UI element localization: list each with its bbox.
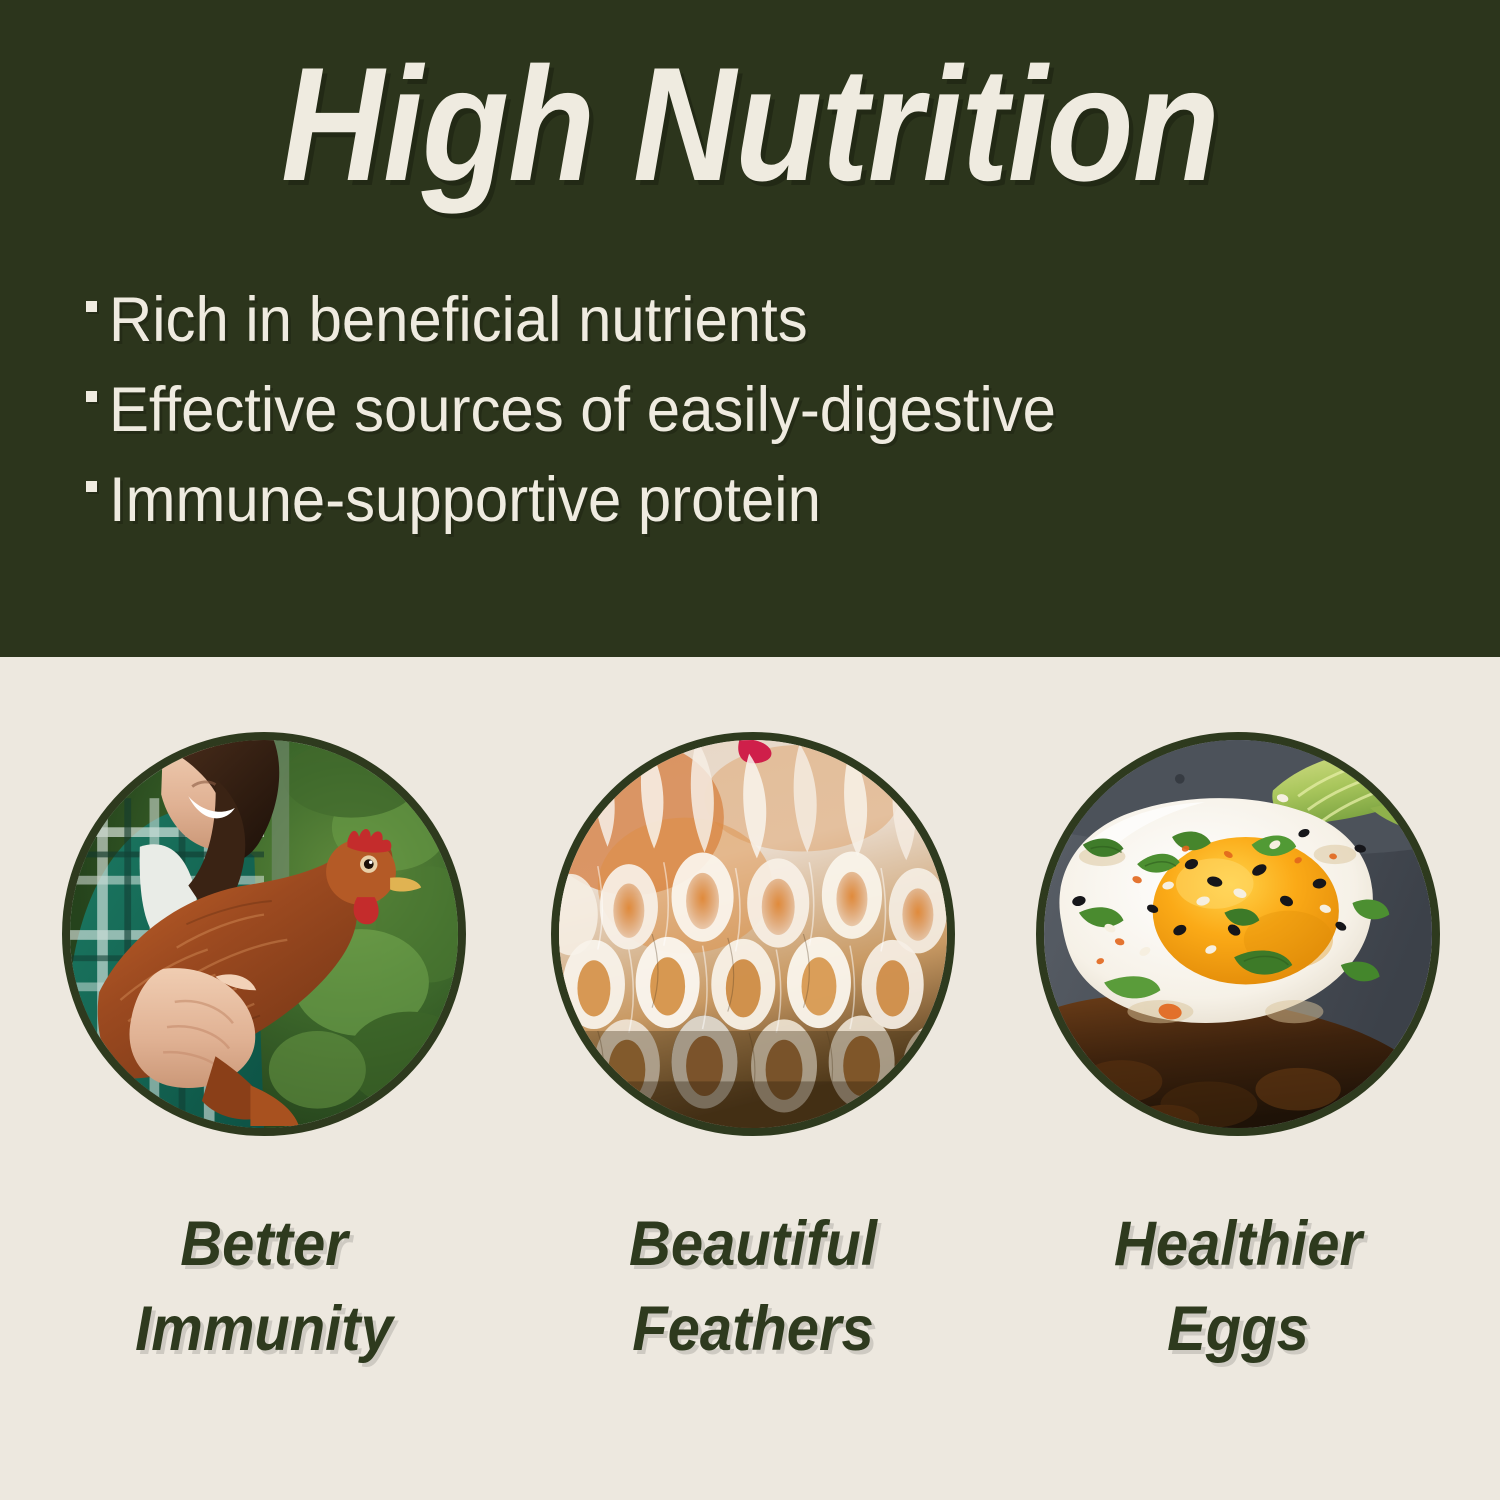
list-item: Rich in beneficial nutrients — [86, 286, 1426, 376]
benefit-text: Rich in beneficial nutrients — [109, 286, 808, 354]
feature-label-line1: Healthier — [1052, 1202, 1424, 1287]
benefit-text: Effective sources of easily-digestive — [109, 376, 1056, 444]
feature-label: Beautiful Feathers — [567, 1202, 939, 1372]
feature-label-line2: Eggs — [1052, 1287, 1424, 1372]
infographic-page: High Nutrition Rich in beneficial nutrie… — [0, 0, 1500, 1500]
fried-egg-avocado-photo — [1036, 732, 1440, 1136]
list-item: Immune-supportive protein — [86, 466, 1426, 556]
woman-holding-hen-photo — [62, 732, 466, 1136]
feature-label-line1: Beautiful — [567, 1202, 939, 1287]
square-bullet-icon — [86, 481, 97, 492]
feature-label-line2: Feathers — [567, 1287, 939, 1372]
hero-panel: High Nutrition Rich in beneficial nutrie… — [0, 0, 1500, 657]
benefits-list: Rich in beneficial nutrients Effective s… — [86, 286, 1426, 556]
feature-beautiful-feathers: Beautiful Feathers — [551, 732, 955, 1372]
list-item: Effective sources of easily-digestive — [86, 376, 1426, 466]
benefit-text: Immune-supportive protein — [109, 466, 821, 534]
chicken-feathers-closeup-photo — [551, 732, 955, 1136]
feature-label: Better Immunity — [78, 1202, 450, 1372]
feature-label: Healthier Eggs — [1052, 1202, 1424, 1372]
feature-label-line2: Immunity — [78, 1287, 450, 1372]
features-panel: Better Immunity — [0, 657, 1500, 1500]
square-bullet-icon — [86, 301, 97, 312]
feature-better-immunity: Better Immunity — [62, 732, 466, 1372]
feature-healthier-eggs: Healthier Eggs — [1036, 732, 1440, 1372]
square-bullet-icon — [86, 391, 97, 402]
page-title: High Nutrition — [90, 44, 1410, 206]
feature-label-line1: Better — [78, 1202, 450, 1287]
